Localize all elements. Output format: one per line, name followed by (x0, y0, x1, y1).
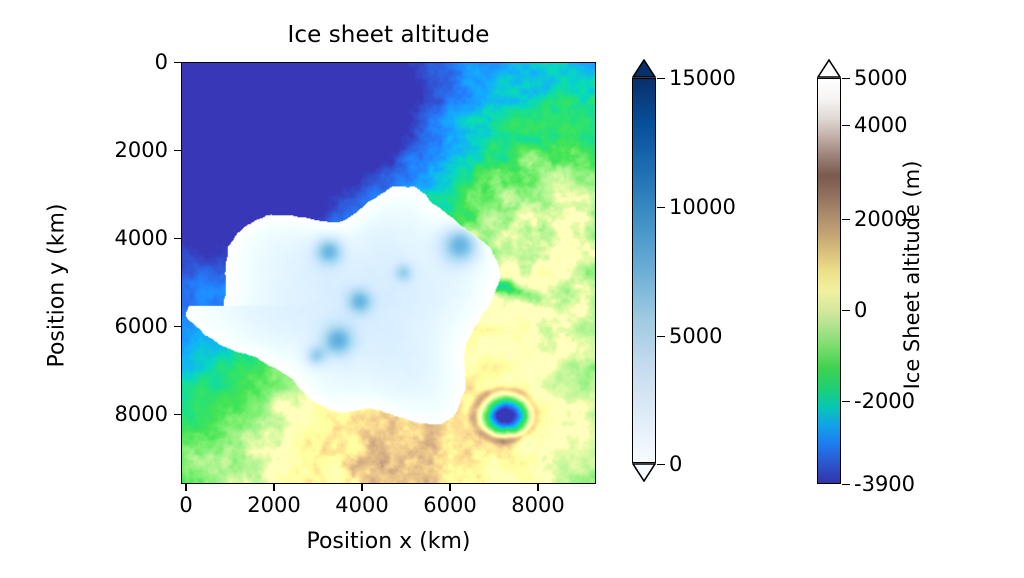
colorbar-ice-tick-10000 (657, 207, 665, 209)
colorbar-ice-ticklabel-15000: 15000 (669, 66, 736, 90)
colorbar-topo-tick-minus2000 (842, 401, 850, 403)
x-ticklabel-2000: 2000 (247, 493, 300, 517)
y-ticklabel-4000: 4000 (80, 226, 168, 250)
colorbar-topo-tick-minus3900 (842, 484, 850, 486)
colorbar-topo-ticklabel-0: 0 (854, 298, 867, 322)
x-tick-6000 (449, 484, 451, 491)
y-ticklabel-0: 0 (80, 50, 168, 74)
y-ticklabel-6000: 6000 (80, 314, 168, 338)
x-tick-4000 (361, 484, 363, 491)
colorbar-topo-ticklabel-4000: 4000 (854, 113, 907, 137)
colorbar-topo-tick-5000 (842, 78, 850, 80)
page-title: Ice sheet altitude (181, 22, 596, 48)
colorbar-topo-ticklabel-2000: 2000 (854, 207, 907, 231)
y-axis-label: Position y (km) (45, 166, 70, 406)
colorbar-ice-tick-0 (657, 464, 665, 466)
colorbar-ice-ticklabel-0: 0 (669, 452, 682, 476)
x-tick-2000 (273, 484, 275, 491)
colorbar-ice-gradient (632, 78, 656, 463)
y-tick-4000 (174, 238, 181, 240)
x-ticklabel-8000: 8000 (511, 493, 564, 517)
colorbar-topo-ticklabel-minus3900: -3900 (854, 472, 915, 496)
x-ticklabel-6000: 6000 (423, 493, 476, 517)
colorbar-ice-extend-max-arrow (632, 59, 656, 78)
colorbar-topo-gradient (817, 78, 841, 484)
x-tick-0 (185, 484, 187, 491)
x-tick-8000 (537, 484, 539, 491)
y-tick-6000 (174, 326, 181, 328)
x-ticklabel-4000: 4000 (335, 493, 388, 517)
y-ticklabel-8000: 8000 (80, 402, 168, 426)
colorbar-ice-extend-min-arrow (632, 463, 656, 482)
map-image (182, 63, 595, 483)
y-tick-0 (174, 62, 181, 64)
colorbar-ice-tick-15000 (657, 78, 665, 80)
colorbar-ice-title: Ice Sheet altitude (m) (900, 125, 924, 425)
colorbar-ice-ticklabel-5000: 5000 (669, 324, 722, 348)
colorbar-ice-tick-5000 (657, 336, 665, 338)
y-tick-8000 (174, 414, 181, 416)
figure-canvas: Ice sheet altitude 0 2000 4000 6000 8000… (0, 0, 1024, 578)
y-ticklabel-2000: 2000 (80, 138, 168, 162)
colorbar-topo-ticklabel-minus2000: -2000 (854, 389, 915, 413)
x-axis-label: Position x (km) (181, 529, 596, 554)
map-axes[interactable] (181, 62, 596, 484)
colorbar-topo-tick-0 (842, 310, 850, 312)
x-ticklabel-0: 0 (179, 493, 192, 517)
colorbar-topo-ticklabel-5000: 5000 (854, 66, 907, 90)
colorbar-topo-tick-4000 (842, 125, 850, 127)
colorbar-ice-ticklabel-10000: 10000 (669, 195, 736, 219)
colorbar-topo-tick-2000 (842, 219, 850, 221)
y-tick-2000 (174, 150, 181, 152)
colorbar-topo-extend-max-arrow (817, 59, 841, 78)
